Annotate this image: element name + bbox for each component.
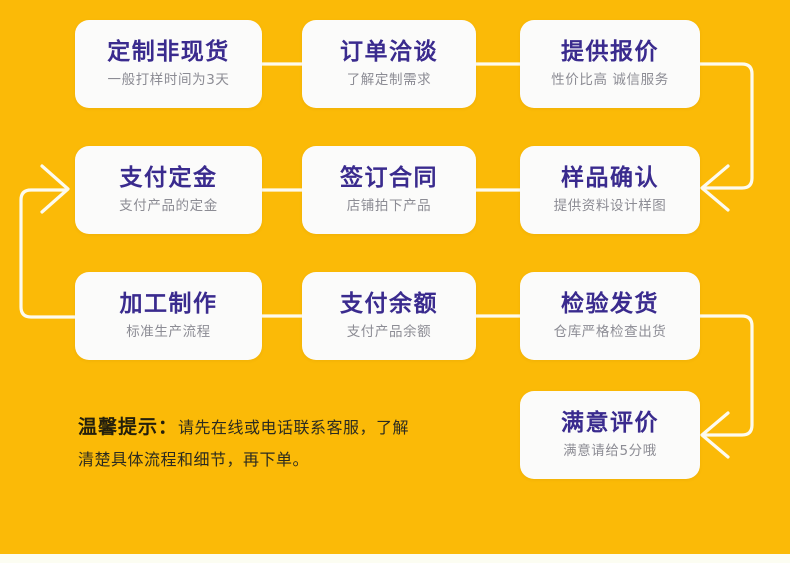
flow-card-title: 加工制作 (120, 292, 218, 317)
flow-card-subtitle: 提供资料设计样图 (554, 199, 667, 214)
arrow-head-into-step6 (702, 166, 728, 210)
flow-card-step-5[interactable]: 签订合同 店铺拍下产品 (302, 146, 476, 234)
flow-card-title: 满意评价 (561, 411, 659, 436)
flow-card-subtitle: 仓库严格检查出货 (554, 325, 667, 340)
tips-text-line-1: 请先在线或电话联系客服，了解 (178, 418, 409, 437)
flow-card-subtitle: 了解定制需求 (347, 73, 432, 88)
flowchart-canvas: 定制非现货 一般打样时间为3天 订单洽谈 了解定制需求 提供报价 性价比高 诚信… (0, 0, 790, 563)
tips-line-2: 清楚具体流程和细节，再下单。 (78, 445, 498, 475)
link-step7-step4-path (21, 190, 75, 317)
flow-card-step-10[interactable]: 满意评价 满意请给5分哦 (520, 391, 700, 479)
flow-card-title: 样品确认 (561, 166, 659, 191)
flow-card-step-9[interactable]: 检验发货 仓库严格检查出货 (520, 272, 700, 360)
flow-card-step-7[interactable]: 加工制作 标准生产流程 (75, 272, 262, 360)
arrow-head-into-step4 (42, 166, 68, 212)
flow-card-subtitle: 支付产品的定金 (119, 199, 218, 214)
flow-card-subtitle: 性价比高 诚信服务 (551, 73, 669, 88)
flow-card-subtitle: 标准生产流程 (126, 325, 211, 340)
flow-card-step-4[interactable]: 支付定金 支付产品的定金 (75, 146, 262, 234)
flow-card-title: 提供报价 (561, 40, 659, 65)
tips-block: 温馨提示：请先在线或电话联系客服，了解 清楚具体流程和细节，再下单。 (78, 410, 498, 475)
flow-card-title: 检验发货 (561, 292, 659, 317)
flow-card-title: 签订合同 (340, 166, 438, 191)
flow-card-step-8[interactable]: 支付余额 支付产品余额 (302, 272, 476, 360)
link-step3-step6-path (700, 64, 752, 188)
flow-card-subtitle: 店铺拍下产品 (347, 199, 432, 214)
flow-card-title: 支付余额 (340, 292, 438, 317)
flow-card-subtitle: 满意请给5分哦 (563, 444, 657, 459)
bottom-strip (0, 554, 790, 563)
flow-card-step-6[interactable]: 样品确认 提供资料设计样图 (520, 146, 700, 234)
link-step9-step10-path (700, 316, 752, 435)
arrow-head-into-step10 (702, 413, 728, 457)
flow-card-step-1[interactable]: 定制非现货 一般打样时间为3天 (75, 20, 262, 108)
flow-card-title: 定制非现货 (107, 40, 230, 65)
flow-card-subtitle: 支付产品余额 (347, 325, 432, 340)
flow-card-title: 订单洽谈 (340, 40, 438, 65)
flow-card-step-3[interactable]: 提供报价 性价比高 诚信服务 (520, 20, 700, 108)
flow-card-step-2[interactable]: 订单洽谈 了解定制需求 (302, 20, 476, 108)
flow-card-subtitle: 一般打样时间为3天 (108, 73, 230, 88)
flow-card-title: 支付定金 (120, 166, 218, 191)
tips-line-1: 温馨提示：请先在线或电话联系客服，了解 (78, 410, 498, 445)
tips-label: 温馨提示： (78, 416, 178, 438)
